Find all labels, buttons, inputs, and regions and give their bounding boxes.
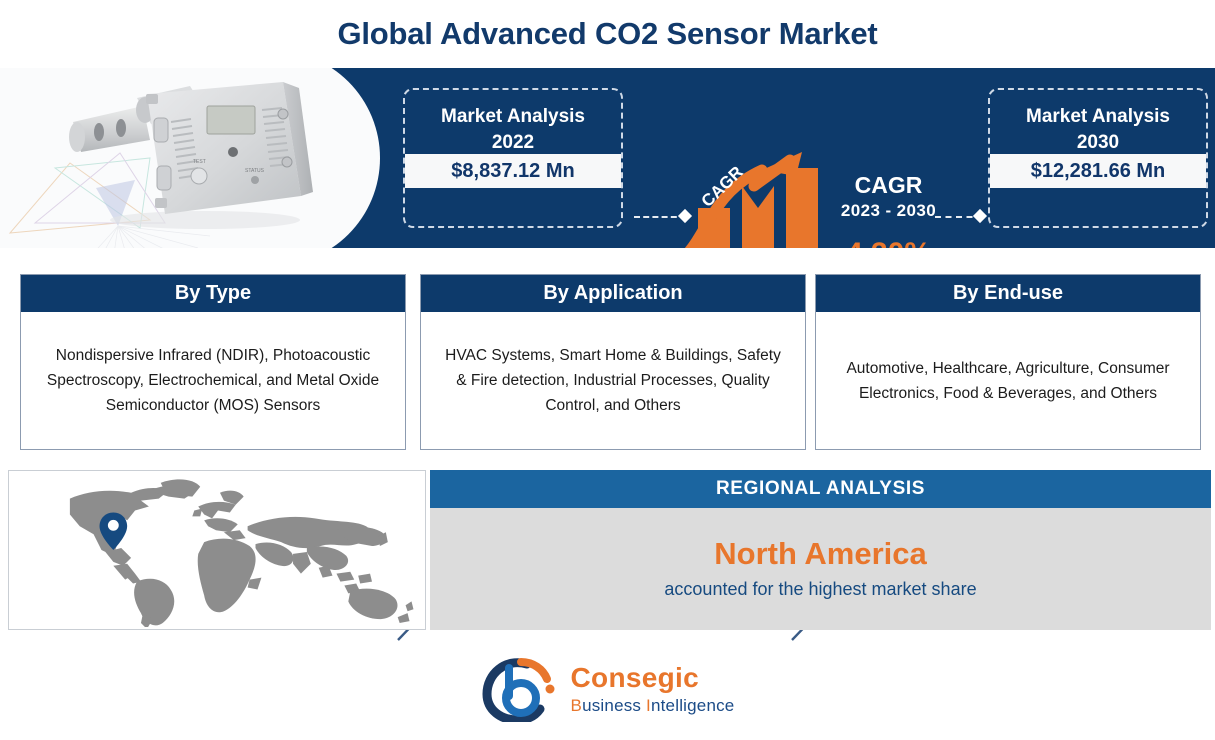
page-title-bar: Global Advanced CO2 Sensor Market [0,0,1215,68]
cagr-value: 4.30% [806,237,971,248]
page-title: Global Advanced CO2 Sensor Market [337,16,877,52]
top-region-name: North America [714,534,926,574]
regional-panel: REGIONAL ANALYSIS North America accounte… [430,470,1211,630]
market-2022-value: $8,837.12 Mn [405,154,621,188]
market-analysis-2030-card: Market Analysis 2030 $12,281.66 Mn [988,88,1208,228]
hero-banner: TEST STATUS Market Analysis 2022 $8,837.… [0,68,1215,248]
segment-card-by-type: By Type Nondispersive Infrared (NDIR), P… [20,274,406,450]
market-analysis-2022-card: Market Analysis 2022 $8,837.12 Mn [403,88,623,228]
cagr-label: CAGR [806,172,971,199]
segment-body-by-end-use: Automotive, Healthcare, Agriculture, Con… [816,312,1200,449]
world-map [9,471,425,627]
logo-tagline: Business Intelligence [571,697,735,714]
logo-tagline-b: B [571,696,583,715]
market-2022-label-line1: Market Analysis [441,104,585,130]
logo-tagline-ntelligence: ntelligence [651,696,734,715]
segment-header-by-end-use: By End-use [816,275,1200,312]
infographic-page: Global Advanced CO2 Sensor Market [0,0,1215,740]
logo-tagline-usiness: usiness [582,696,646,715]
svg-text:STATUS: STATUS [245,168,265,174]
segment-body-by-type: Nondispersive Infrared (NDIR), Photoacou… [21,312,405,449]
market-2030-label-line1: Market Analysis [1026,104,1170,130]
segment-header-by-application: By Application [421,275,805,312]
logo-brand-name: Consegic [571,664,735,692]
svg-text:TEST: TEST [193,159,206,165]
segment-body-by-application: HVAC Systems, Smart Home & Buildings, Sa… [421,312,805,449]
market-2030-label-line2: 2030 [1077,130,1119,156]
segment-card-by-application: By Application HVAC Systems, Smart Home … [420,274,806,450]
regional-analysis-header: REGIONAL ANALYSIS [430,470,1211,508]
diamond-marker-right [973,209,987,223]
footer-logo: Consegic Business Intelligence [0,638,1215,740]
market-2030-value: $12,281.66 Mn [990,154,1206,188]
cagr-text-block: CAGR 2023 - 2030 4.30% [806,172,971,248]
top-region-subtitle: accounted for the highest market share [664,574,976,604]
segment-card-by-end-use: By End-use Automotive, Healthcare, Agric… [815,274,1201,450]
segments-row: By Type Nondispersive Infrared (NDIR), P… [0,258,1215,458]
market-2022-label-line2: 2022 [492,130,534,156]
co2-sensor-product-image: TEST STATUS [55,80,345,235]
regional-analysis-body: North America accounted for the highest … [430,508,1211,630]
consegic-logo-icon [481,656,559,722]
regional-analysis-row: REGIONAL ANALYSIS North America accounte… [0,468,1215,633]
world-map-card [8,470,426,630]
segment-header-by-type: By Type [21,275,405,312]
